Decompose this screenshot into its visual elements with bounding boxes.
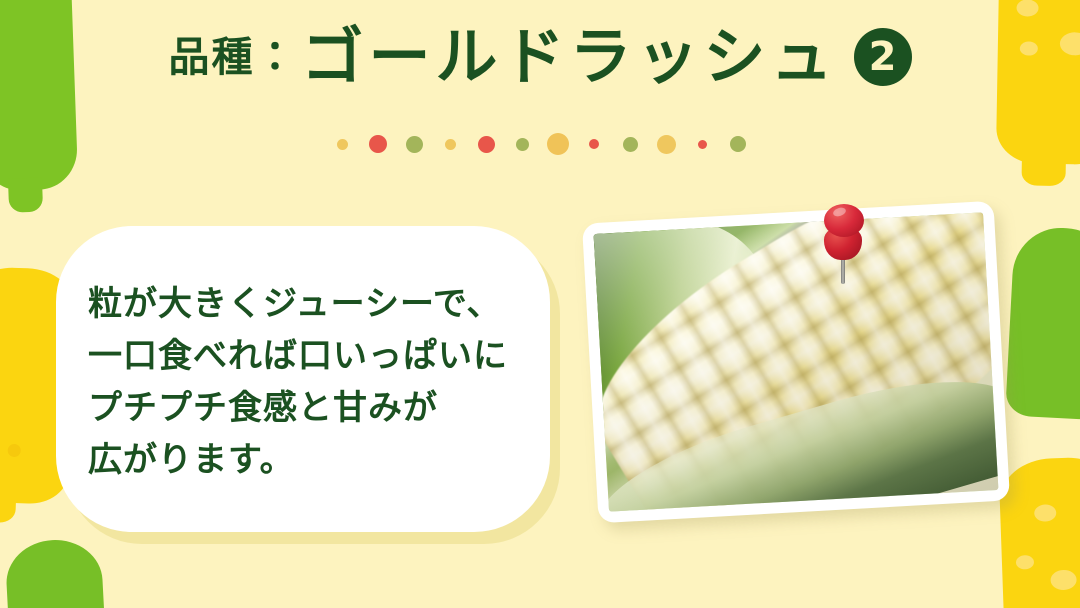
title-prefix: 品種： xyxy=(168,37,297,78)
corn-kernel-dot xyxy=(1016,0,1038,17)
slide-canvas: 品種： ゴールドラッシュ 2 粒が大きくジューシーで、 一口食べれば口いっぱいに… xyxy=(0,0,1080,608)
divider-dot xyxy=(445,139,456,150)
divider-dot xyxy=(369,135,387,153)
corn-photo-frame[interactable] xyxy=(582,201,1010,524)
title-number-badge: 2 xyxy=(854,28,912,86)
divider-dot xyxy=(623,137,638,152)
corn-leaf-bottom-left-shape xyxy=(4,538,107,608)
pushpin-icon[interactable] xyxy=(816,200,870,286)
photo-lighting-overlay xyxy=(594,212,999,511)
divider-dot xyxy=(698,140,707,149)
corn-kernel-dot xyxy=(1050,570,1077,591)
corn-leaf-right-shape xyxy=(1005,226,1080,421)
dot-divider xyxy=(0,131,1080,157)
divider-dot xyxy=(478,136,495,153)
divider-dot xyxy=(516,138,529,151)
divider-dot xyxy=(547,133,569,155)
corn-photo-image xyxy=(594,212,999,511)
corn-kernel-dot xyxy=(8,444,21,457)
divider-dot xyxy=(730,136,746,152)
divider-dot xyxy=(657,135,676,154)
divider-dot xyxy=(337,139,348,150)
divider-dot xyxy=(406,136,423,153)
corn-cob-bottom-right-shape xyxy=(998,456,1080,608)
corn-kernel-dot xyxy=(1034,504,1057,522)
description-card: 粒が大きくジューシーで、 一口食べれば口いっぱいに プチプチ食感と甘みが 広がり… xyxy=(56,226,550,532)
description-text: 粒が大きくジューシーで、 一口食べれば口いっぱいに プチプチ食感と甘みが 広がり… xyxy=(88,278,530,486)
page-title: 品種： ゴールドラッシュ 2 xyxy=(0,26,1080,88)
divider-dot xyxy=(589,139,599,149)
corn-kernel-dot xyxy=(1016,555,1034,570)
title-variety: ゴールドラッシュ xyxy=(301,26,837,88)
